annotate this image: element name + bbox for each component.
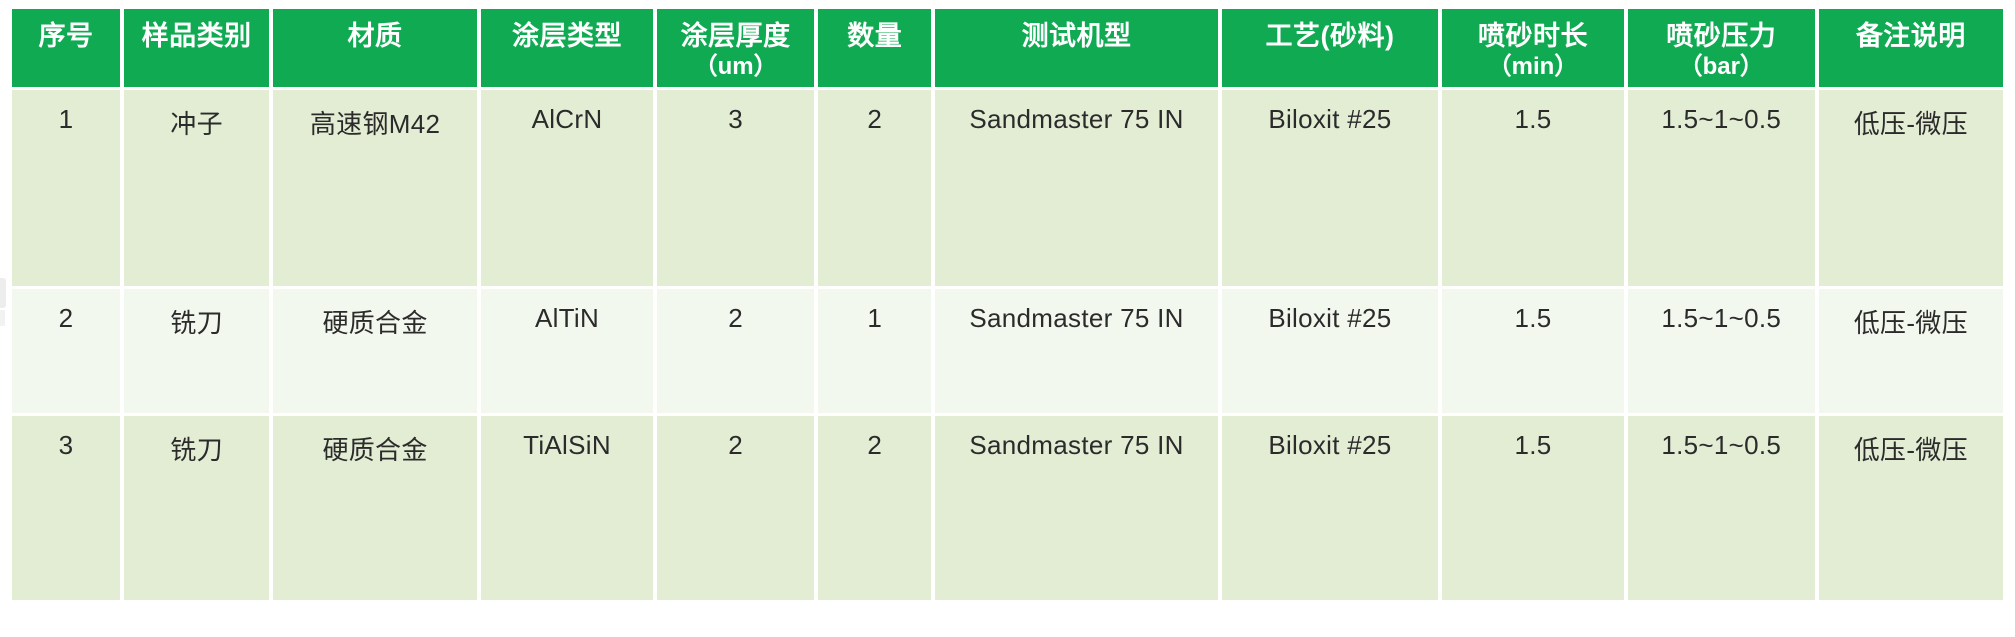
cell-thick: 2 [657, 416, 814, 600]
cell-mat: 高速钢M42 [273, 90, 477, 286]
table-header: 序号 样品类别 材质 涂层类型 涂层厚度 （um） 数量 [12, 9, 2003, 87]
column-header-time: 喷砂时长 （min） [1442, 9, 1624, 87]
cell-press: 1.5~1~0.5 [1628, 416, 1815, 600]
sample-specification-table: 序号 样品类别 材质 涂层类型 涂层厚度 （um） 数量 [8, 6, 2007, 603]
cell-machine: Sandmaster 75 IN [935, 289, 1218, 413]
column-header-qty-label: 数量 [847, 21, 902, 51]
column-header-process-label: 工艺(砂料) [1265, 21, 1394, 51]
column-header-thick: 涂层厚度 （um） [657, 9, 814, 87]
cell-mat: 硬质合金 [273, 289, 477, 413]
column-header-qty: 数量 [818, 9, 931, 87]
cell-process: Biloxit #25 [1222, 416, 1438, 600]
column-header-no: 序号 [12, 9, 120, 87]
column-header-coat: 涂层类型 [481, 9, 653, 87]
column-header-cat-label: 样品类别 [142, 21, 252, 51]
column-header-press-unit: （bar） [1632, 53, 1811, 81]
cell-qty: 1 [818, 289, 931, 413]
column-header-mat-label: 材质 [348, 21, 403, 51]
column-header-machine-label: 测试机型 [1022, 21, 1132, 51]
cell-qty: 2 [818, 416, 931, 600]
cell-press: 1.5~1~0.5 [1628, 289, 1815, 413]
column-header-machine: 测试机型 [935, 9, 1218, 87]
table-header-row: 序号 样品类别 材质 涂层类型 涂层厚度 （um） 数量 [12, 9, 2003, 87]
cell-machine: Sandmaster 75 IN [935, 90, 1218, 286]
page-edge-artifact [0, 278, 6, 308]
table-row: 1 冲子 高速钢M42 AlCrN 3 2 Sandmaster 75 IN B… [12, 90, 2003, 286]
table-row: 3 铣刀 硬质合金 TiAlSiN 2 2 Sandmaster 75 IN B… [12, 416, 2003, 600]
table-row: 2 铣刀 硬质合金 AlTiN 2 1 Sandmaster 75 IN Bil… [12, 289, 2003, 413]
cell-press: 1.5~1~0.5 [1628, 90, 1815, 286]
cell-thick: 3 [657, 90, 814, 286]
column-header-thick-unit: （um） [661, 53, 810, 81]
cell-process: Biloxit #25 [1222, 289, 1438, 413]
column-header-no-label: 序号 [39, 21, 94, 51]
cell-no: 2 [12, 289, 120, 413]
cell-cat: 铣刀 [124, 416, 269, 600]
table-body: 1 冲子 高速钢M42 AlCrN 3 2 Sandmaster 75 IN B… [12, 90, 2003, 600]
column-header-time-label: 喷砂时长 [1478, 21, 1588, 51]
column-header-process: 工艺(砂料) [1222, 9, 1438, 87]
cell-no: 3 [12, 416, 120, 600]
page-edge-artifact-2 [0, 310, 5, 326]
column-header-coat-label: 涂层类型 [512, 21, 622, 51]
column-header-mat: 材质 [273, 9, 477, 87]
cell-remark: 低压-微压 [1819, 416, 2003, 600]
cell-coat: AlCrN [481, 90, 653, 286]
cell-machine: Sandmaster 75 IN [935, 416, 1218, 600]
column-header-press: 喷砂压力 （bar） [1628, 9, 1815, 87]
column-header-press-label: 喷砂压力 [1666, 21, 1776, 51]
spec-table-container: 序号 样品类别 材质 涂层类型 涂层厚度 （um） 数量 [0, 0, 2015, 637]
cell-coat: AlTiN [481, 289, 653, 413]
cell-time: 1.5 [1442, 90, 1624, 286]
cell-process: Biloxit #25 [1222, 90, 1438, 286]
column-header-remark: 备注说明 [1819, 9, 2003, 87]
column-header-thick-label: 涂层厚度 [681, 21, 791, 51]
cell-qty: 2 [818, 90, 931, 286]
cell-no: 1 [12, 90, 120, 286]
cell-cat: 铣刀 [124, 289, 269, 413]
column-header-cat: 样品类别 [124, 9, 269, 87]
cell-thick: 2 [657, 289, 814, 413]
column-header-time-unit: （min） [1446, 53, 1620, 81]
cell-remark: 低压-微压 [1819, 90, 2003, 286]
cell-remark: 低压-微压 [1819, 289, 2003, 413]
cell-mat: 硬质合金 [273, 416, 477, 600]
cell-time: 1.5 [1442, 289, 1624, 413]
cell-cat: 冲子 [124, 90, 269, 286]
column-header-remark-label: 备注说明 [1856, 21, 1966, 51]
cell-time: 1.5 [1442, 416, 1624, 600]
cell-coat: TiAlSiN [481, 416, 653, 600]
